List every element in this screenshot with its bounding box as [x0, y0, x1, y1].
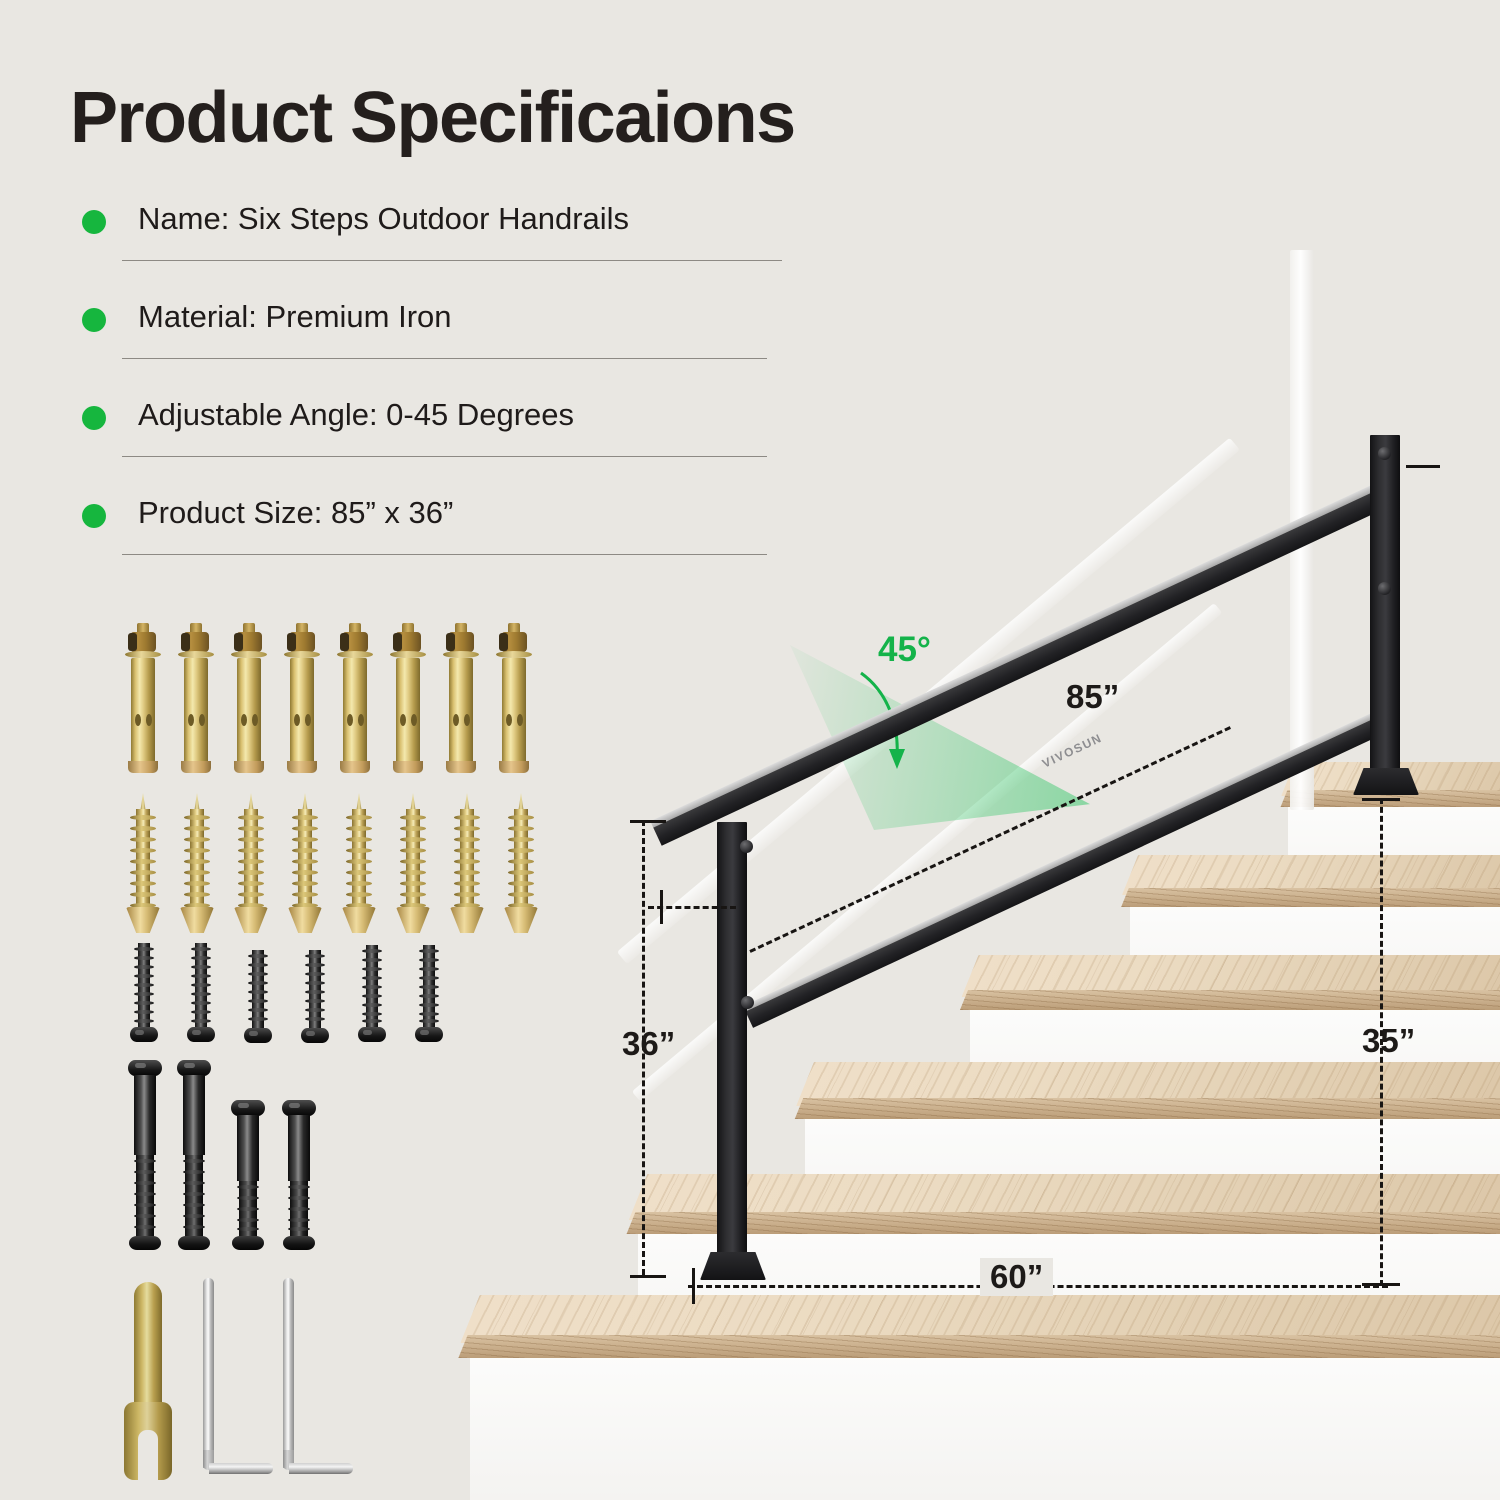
wood-screw-icon	[450, 785, 484, 937]
handrail-bolt-icon	[1378, 447, 1391, 460]
handrail-bolt-icon	[740, 840, 753, 853]
handrail-left-post-base	[700, 1252, 766, 1280]
wood-screw-icon	[288, 785, 322, 937]
wood-screw-icon	[234, 785, 268, 937]
machine-screw-icon	[244, 950, 272, 1044]
expansion-anchor-icon	[234, 618, 264, 778]
wood-screw-icon	[396, 785, 430, 937]
handrail-bolt-icon	[741, 996, 754, 1009]
wood-screw-icon	[342, 785, 376, 937]
shoulder-bolt-long-icon	[128, 1060, 162, 1250]
dim-tick	[1362, 798, 1400, 801]
dim-label-post-height: 36”	[622, 1025, 675, 1063]
hex-key-icon	[283, 1278, 359, 1478]
handrail-right-post	[1370, 435, 1400, 780]
wood-screw-icon	[126, 785, 160, 937]
dim-label-stair-rise: 35”	[1362, 1022, 1415, 1060]
expansion-anchor-icon	[446, 618, 476, 778]
machine-screw-icon	[187, 943, 215, 1043]
handrail-left-post	[717, 822, 747, 1262]
hex-key-icon	[203, 1278, 279, 1478]
dim-tick	[630, 1275, 666, 1278]
wood-screw-icon	[504, 785, 538, 937]
shoulder-bolt-short-icon	[282, 1100, 316, 1250]
bullet-dot-icon	[82, 308, 106, 332]
expansion-anchor-icon	[181, 618, 211, 778]
dim-tick	[630, 820, 666, 823]
machine-screw-icon	[301, 950, 329, 1044]
page-title: Product Specificaions	[70, 82, 795, 154]
dim-tick	[660, 890, 663, 924]
handrail-bolt-icon	[1378, 582, 1391, 595]
machine-screw-icon	[130, 943, 158, 1043]
dim-tick	[1406, 465, 1440, 468]
dim-tick	[692, 1268, 695, 1304]
machine-screw-icon	[358, 945, 386, 1043]
machine-screw-icon	[415, 945, 443, 1043]
shoulder-bolt-short-icon	[231, 1100, 265, 1250]
spec-label: Material: Premium Iron	[138, 296, 452, 338]
expansion-anchor-icon	[499, 618, 529, 778]
dim-label-rail-length: 85”	[1066, 678, 1119, 716]
expansion-anchor-icon	[393, 618, 423, 778]
product-spec-page: Product Specificaions Name: Six Steps Ou…	[0, 0, 1500, 1500]
handrail-right-post-base	[1353, 768, 1419, 795]
spec-label: Product Size: 85” x 36”	[138, 492, 453, 534]
shoulder-bolt-long-icon	[177, 1060, 211, 1250]
spec-label: Adjustable Angle: 0-45 Degrees	[138, 394, 574, 436]
bullet-dot-icon	[82, 406, 106, 430]
wood-screw-icon	[180, 785, 214, 937]
spec-label: Name: Six Steps Outdoor Handrails	[138, 198, 629, 240]
dim-label-stair-run: 60”	[980, 1258, 1053, 1296]
expansion-anchor-icon	[128, 618, 158, 778]
bullet-dot-icon	[82, 504, 106, 528]
expansion-anchor-icon	[340, 618, 370, 778]
open-end-wrench-icon	[124, 1282, 172, 1482]
expansion-anchor-icon	[287, 618, 317, 778]
angle-label: 45°	[878, 630, 931, 670]
bullet-dot-icon	[82, 210, 106, 234]
handrail-stairs-diagram: 45° VIVOSUN 85”	[600, 150, 1500, 1500]
